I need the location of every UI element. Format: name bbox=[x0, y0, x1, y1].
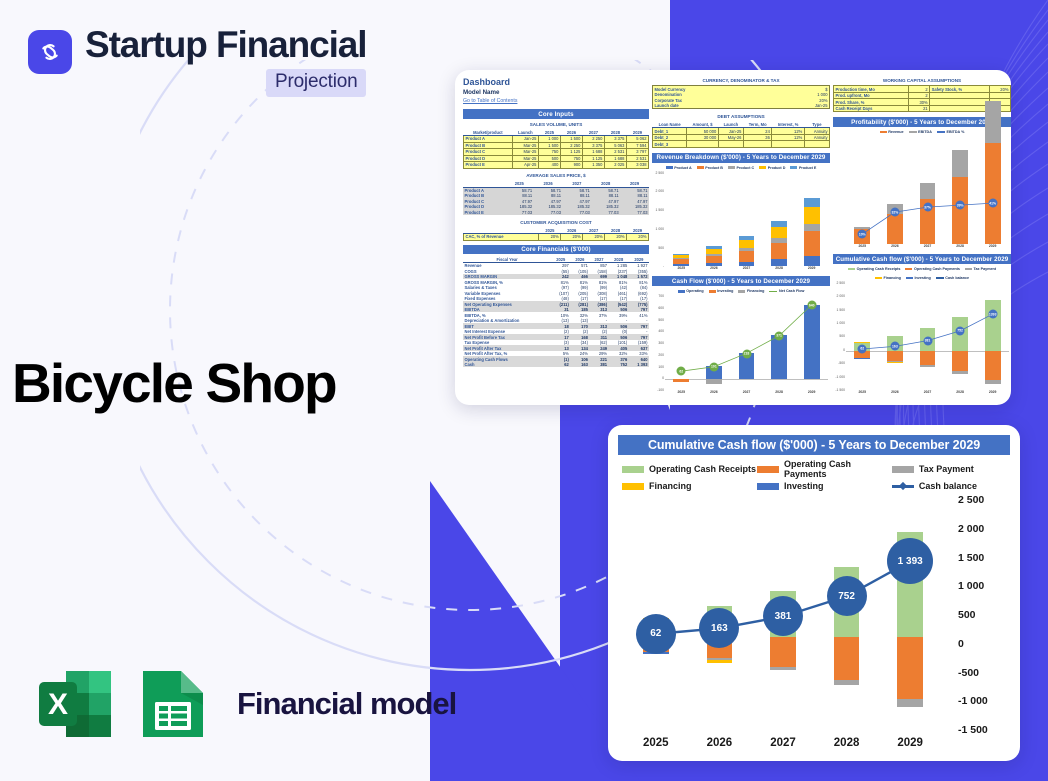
x-tick: 2025 bbox=[624, 737, 688, 749]
table-cell: Product E bbox=[464, 162, 513, 169]
plot-area: 621633817521393 bbox=[846, 285, 1009, 390]
table-row[interactable]: CAC, % of Revenue20%20%20%20%20% bbox=[464, 234, 649, 241]
x-axis-labels: 20252026202720282029 bbox=[846, 244, 1009, 252]
bar-segment[interactable] bbox=[673, 258, 689, 259]
table-cell: 21 bbox=[909, 105, 930, 112]
bar-segment[interactable] bbox=[804, 207, 820, 224]
legend-item: Product E bbox=[790, 166, 816, 170]
legend-swatch bbox=[769, 291, 777, 292]
legend-label: EBITDA % bbox=[946, 130, 964, 134]
y-tick: 2 500 bbox=[958, 494, 984, 506]
x-tick: 2029 bbox=[878, 737, 942, 749]
bar-segment[interactable] bbox=[673, 254, 689, 255]
cash-balance-bubble[interactable]: 381 bbox=[763, 596, 803, 636]
legend-label: Cash balance bbox=[945, 276, 969, 280]
cash-flow-legend: OperatingInvestingFinancingNet Cash Flow bbox=[652, 288, 830, 294]
legend-swatch bbox=[709, 290, 716, 293]
table-cell bbox=[743, 141, 771, 148]
legend-item: EBITDA bbox=[909, 130, 932, 134]
revenue-breakdown-legend: Product AProduct BProduct CProduct DProd… bbox=[652, 165, 830, 171]
legend-swatch bbox=[678, 290, 685, 293]
legend-label: Tax Payment bbox=[974, 267, 996, 271]
sales-volume-caption: SALES VOLUME, UNITS bbox=[463, 121, 649, 127]
data-point-bubble[interactable]: 37% bbox=[923, 203, 932, 212]
y-tick: 200 bbox=[658, 353, 664, 357]
y-tick: 2 000 bbox=[656, 189, 665, 193]
avg-price-caption: AVERAGE SALES PRICE, $ bbox=[463, 173, 649, 179]
legend-item: Product A bbox=[666, 166, 692, 170]
data-point-bubble[interactable]: 101 bbox=[709, 362, 718, 371]
bar-segment[interactable] bbox=[706, 254, 722, 256]
x-tick: 2029 bbox=[795, 390, 828, 398]
legend-label: Investing bbox=[717, 289, 733, 293]
legend-item: Tax Payment bbox=[892, 459, 1008, 479]
legend-item: Operating Cash Payments bbox=[757, 459, 892, 479]
cac-table[interactable]: 20252026202720282029 CAC, % of Revenue20… bbox=[463, 227, 649, 240]
y-tick: 0 bbox=[662, 376, 664, 380]
table-row[interactable]: Cash621633817521 393 bbox=[463, 362, 649, 368]
table-cell: Jan-25 bbox=[773, 103, 829, 109]
revenue-breakdown-chart[interactable]: 2 5002 0001 5001 000500-2025202620272028… bbox=[652, 173, 830, 275]
y-tick: 2 000 bbox=[958, 523, 984, 535]
legend-label: Financing bbox=[747, 289, 764, 293]
y-tick: 1 500 bbox=[837, 308, 846, 312]
legend-item: Operating Cash Receipts bbox=[622, 459, 757, 479]
x-tick: 2027 bbox=[730, 390, 763, 398]
data-point-bubble[interactable]: 62 bbox=[858, 344, 867, 353]
table-cell bbox=[772, 141, 804, 148]
legend-swatch bbox=[909, 131, 917, 132]
legend-label: Financing bbox=[649, 481, 692, 491]
google-sheets-icon bbox=[135, 662, 211, 746]
y-tick: -1 500 bbox=[835, 388, 845, 392]
y-tick: - bbox=[663, 264, 664, 268]
y-tick: -500 bbox=[958, 667, 979, 679]
table-cell: Cash bbox=[463, 362, 551, 368]
plot-area: 62101218371640 bbox=[665, 298, 828, 390]
core-inputs-band: Core Inputs bbox=[463, 109, 649, 119]
table-cell: 20% bbox=[583, 234, 605, 241]
plot-area bbox=[665, 175, 828, 267]
bar-segment[interactable] bbox=[771, 259, 787, 266]
bar-segment[interactable] bbox=[804, 198, 820, 207]
table-cell: 77.03 bbox=[505, 210, 534, 216]
table-cell: 3 038 bbox=[626, 162, 648, 169]
legend-item: Tax Payment bbox=[965, 267, 996, 271]
legend-item: Product B bbox=[697, 166, 723, 170]
y-tick: 300 bbox=[658, 341, 664, 345]
infinity-e-logo-glyph bbox=[37, 39, 63, 65]
table-cell: 77.03 bbox=[562, 210, 591, 216]
toc-link[interactable]: Go to Table of Contents bbox=[463, 98, 649, 104]
legend-item: Investing bbox=[709, 289, 734, 293]
table-cell: 20% bbox=[539, 234, 561, 241]
legend-swatch bbox=[622, 466, 644, 473]
bar-segment[interactable] bbox=[771, 227, 787, 238]
legend-swatch bbox=[848, 268, 855, 271]
dashboard-heading: Dashboard bbox=[463, 77, 649, 87]
legend-label: Operating Cash Receipts bbox=[649, 464, 756, 474]
legend-label: Tax Payment bbox=[919, 464, 974, 474]
legend-label: Operating Cash Payments bbox=[784, 459, 892, 479]
x-tick: 2026 bbox=[879, 244, 912, 252]
cumulative-cash-flow-chart[interactable]: 2 5002 0001 5001 0005000-500-1 000-1 500… bbox=[833, 283, 1011, 398]
legend-item: Operating Cash Payments bbox=[905, 267, 960, 271]
core-financials-band: Core Financials ($'000) bbox=[463, 245, 649, 255]
legend-label: Investing bbox=[915, 276, 931, 280]
core-financials-table[interactable]: Fiscal Year20252026202720282029 Revenue2… bbox=[463, 256, 649, 367]
legend-item: Operating Cash Receipts bbox=[848, 267, 900, 271]
y-tick: 500 bbox=[958, 609, 976, 621]
x-tick: 2027 bbox=[730, 266, 763, 274]
legend-item: Revenue bbox=[880, 130, 904, 134]
bar-segment[interactable] bbox=[673, 255, 689, 258]
legend-swatch bbox=[905, 268, 912, 271]
currency-assumptions-table[interactable]: Model Currency$Denomination1 000Corporat… bbox=[652, 85, 830, 109]
dashboard-screenshot-card[interactable]: Dashboard Model Name Go to Table of Cont… bbox=[455, 70, 1011, 405]
y-tick: -1 000 bbox=[958, 695, 988, 707]
x-tick: 2026 bbox=[698, 390, 731, 398]
table-cell: 900 bbox=[560, 162, 582, 169]
y-tick: 400 bbox=[658, 329, 664, 333]
y-tick: 100 bbox=[658, 365, 664, 369]
x-tick: 2029 bbox=[976, 244, 1009, 252]
data-point-bubble[interactable]: 218 bbox=[742, 349, 751, 358]
legend-item: Financing bbox=[622, 481, 757, 491]
legend-swatch bbox=[738, 290, 745, 293]
cumulative-cash-flow-legend: Operating Cash ReceiptsOperating Cash Pa… bbox=[833, 266, 1011, 281]
table-row[interactable]: Launch dateJan-25 bbox=[653, 103, 830, 109]
bar-segment[interactable] bbox=[739, 236, 755, 240]
legend-label: Operating Cash Payments bbox=[914, 267, 960, 271]
cumulative-chart-legend: Operating Cash ReceiptsOperating Cash Pa… bbox=[618, 455, 1010, 493]
microsoft-excel-icon: X bbox=[33, 662, 117, 746]
x-tick: 2026 bbox=[698, 266, 731, 274]
data-point-bubble[interactable]: 41% bbox=[988, 199, 997, 208]
y-tick: 500 bbox=[839, 334, 845, 338]
cumulative-chart-title: Cumulative Cash flow ($'000) - 5 Years t… bbox=[618, 435, 1010, 455]
x-tick: 2026 bbox=[688, 737, 752, 749]
table-cell: 1 350 bbox=[582, 162, 604, 169]
cumulative-chart-y-axis: 2 5002 0001 5001 0005000-500-1 000-1 500 bbox=[948, 497, 1010, 753]
legend-item: Net Cash Flow bbox=[769, 289, 804, 293]
data-point-bubble[interactable]: 752 bbox=[956, 326, 965, 335]
y-tick: 2 500 bbox=[837, 281, 846, 285]
profitability-chart[interactable]: 10%32%37%39%41%20252026202720282029 bbox=[833, 137, 1011, 252]
cumulative-chart-plot-area[interactable]: 621633817521 393 20252026202720282029 bbox=[618, 497, 948, 753]
legend-label: Operating Cash Receipts bbox=[857, 267, 901, 271]
legend-label: Revenue bbox=[888, 130, 903, 134]
x-axis-labels: 20252026202720282029 bbox=[665, 266, 828, 274]
table-row[interactable]: Product E77.0377.0377.0377.0377.03 bbox=[463, 210, 649, 216]
legend-item: Investing bbox=[906, 276, 931, 280]
table-cell: 381 bbox=[589, 362, 608, 368]
cash-balance-bubble[interactable]: 1 393 bbox=[887, 538, 933, 584]
legend-swatch bbox=[757, 483, 779, 490]
debt-assumptions-table[interactable]: Loan NameAmount, $LaunchTerm, MoInterest… bbox=[652, 122, 830, 148]
table-cell: CAC, % of Revenue bbox=[464, 234, 539, 241]
table-cell: 77.03 bbox=[620, 210, 649, 216]
bar-segment[interactable] bbox=[706, 249, 722, 254]
data-point-bubble[interactable]: 640 bbox=[807, 301, 816, 310]
legend-item: Cash balance bbox=[892, 481, 1008, 491]
table-cell: 20% bbox=[605, 234, 627, 241]
svg-text:X: X bbox=[48, 688, 68, 721]
bar-segment[interactable] bbox=[804, 256, 820, 267]
data-point-bubble[interactable]: 381 bbox=[923, 336, 932, 345]
x-tick: 2028 bbox=[763, 390, 796, 398]
x-tick: 2028 bbox=[815, 737, 879, 749]
bar-segment[interactable] bbox=[985, 101, 1001, 143]
bar-segment[interactable] bbox=[673, 259, 689, 264]
wc-caption: WORKING CAPITAL ASSUMPTIONS bbox=[833, 77, 1011, 83]
bar-segment[interactable] bbox=[771, 243, 787, 259]
x-tick: 2025 bbox=[665, 390, 698, 398]
y-tick: 500 bbox=[658, 318, 664, 322]
brand-title: Startup Financial bbox=[85, 26, 366, 64]
revenue-breakdown-title: Revenue Breakdown ($'000) - 5 Years to D… bbox=[652, 153, 830, 163]
legend-label: Product A bbox=[674, 166, 691, 170]
x-tick: 2028 bbox=[944, 390, 977, 398]
y-tick: 1 000 bbox=[958, 580, 984, 592]
y-tick: 1 000 bbox=[837, 321, 846, 325]
table-cell: 163 bbox=[570, 362, 589, 368]
bar-segment[interactable] bbox=[706, 246, 722, 249]
legend-swatch bbox=[759, 166, 766, 169]
legend-swatch bbox=[697, 166, 704, 169]
cumulative-chart-x-axis: 20252026202720282029 bbox=[624, 723, 942, 749]
cumulative-cash-flow-title: Cumulative Cash flow ($'000) - 5 Years t… bbox=[833, 254, 1011, 264]
legend-item: Financing bbox=[875, 276, 901, 280]
x-tick: 2028 bbox=[763, 266, 796, 274]
y-tick: 0 bbox=[843, 348, 845, 352]
y-tick: 700 bbox=[658, 294, 664, 298]
legend-swatch bbox=[936, 277, 944, 278]
x-tick: 2029 bbox=[976, 390, 1009, 398]
table-cell: Product E bbox=[463, 210, 505, 216]
legend-label: EBITDA bbox=[918, 130, 932, 134]
avg-price-table[interactable]: 20252026202720282029 Product A58.7158.71… bbox=[463, 181, 649, 215]
dashboard-column-profitability: WORKING CAPITAL ASSUMPTIONS Production t… bbox=[833, 77, 1011, 398]
table-cell: Debt_3 bbox=[653, 141, 687, 148]
bar-segment[interactable] bbox=[771, 238, 787, 242]
data-point-bubble[interactable]: 163 bbox=[890, 342, 899, 351]
brand-subtitle: Projection bbox=[266, 69, 367, 97]
table-cell: Cash Receipt Days bbox=[834, 105, 909, 112]
table-cell bbox=[687, 141, 718, 148]
x-axis-labels: 20252026202720282029 bbox=[846, 390, 1009, 398]
y-tick: -1 500 bbox=[958, 724, 988, 736]
table-cell bbox=[930, 105, 990, 112]
legend-item: Financing bbox=[738, 289, 764, 293]
legend-label: Cash balance bbox=[919, 481, 977, 491]
legend-label: Product C bbox=[737, 166, 755, 170]
y-tick: 500 bbox=[658, 246, 664, 250]
y-tick: -100 bbox=[657, 388, 664, 392]
data-point-bubble[interactable]: 62 bbox=[677, 367, 686, 376]
table-cell: Apr-25 bbox=[512, 162, 538, 169]
cash-balance-bubble[interactable]: 752 bbox=[827, 576, 867, 616]
data-point-bubble[interactable]: 1393 bbox=[988, 310, 997, 319]
legend-label: Financing bbox=[884, 276, 901, 280]
data-point-bubble[interactable]: 371 bbox=[775, 331, 784, 340]
legend-item: EBITDA % bbox=[937, 130, 965, 134]
y-tick: 2 000 bbox=[837, 294, 846, 298]
legend-label: Net Cash Flow bbox=[779, 289, 804, 293]
table-cell: 752 bbox=[609, 362, 629, 368]
data-point-bubble[interactable]: 10% bbox=[858, 230, 867, 239]
footer-formats: X Financial model bbox=[33, 662, 456, 746]
data-point-bubble[interactable]: 32% bbox=[890, 208, 899, 217]
debt-caption: DEBT ASSUMPTIONS bbox=[652, 113, 830, 119]
bar-segment[interactable] bbox=[771, 221, 787, 227]
x-axis-labels: 20252026202720282029 bbox=[665, 390, 828, 398]
y-tick: 1 500 bbox=[656, 208, 665, 212]
y-tick: 0 bbox=[958, 638, 964, 650]
bar-segment[interactable] bbox=[706, 256, 722, 263]
table-cell bbox=[718, 141, 743, 148]
legend-line-marker bbox=[892, 485, 914, 488]
y-tick: -500 bbox=[838, 361, 845, 365]
legend-swatch bbox=[666, 166, 673, 169]
page-title: Bicycle Shop bbox=[12, 356, 336, 411]
legend-item: Product C bbox=[728, 166, 754, 170]
bar-segment[interactable] bbox=[739, 248, 755, 251]
table-cell: 77.03 bbox=[534, 210, 563, 216]
table-cell bbox=[804, 141, 829, 148]
legend-swatch bbox=[875, 277, 882, 280]
brand-logo-icon bbox=[28, 30, 72, 74]
cash-flow-chart[interactable]: 7006005004003002001000-10062101218371640… bbox=[652, 296, 830, 398]
table-cell: Launch date bbox=[653, 103, 774, 109]
legend-item: Cash balance bbox=[936, 276, 969, 280]
bar-segment[interactable] bbox=[804, 224, 820, 231]
legend-swatch bbox=[965, 268, 972, 271]
currency-caption: CURRENCY, DENOMINATOR & TAX bbox=[652, 77, 830, 83]
brand-header: Startup Financial Projection bbox=[28, 26, 366, 97]
legend-swatch bbox=[790, 166, 797, 169]
cash-balance-bubble[interactable]: 163 bbox=[699, 608, 739, 648]
x-tick: 2027 bbox=[911, 244, 944, 252]
table-cell: 77.03 bbox=[591, 210, 620, 216]
table-cell: 2 025 bbox=[604, 162, 626, 169]
x-tick: 2029 bbox=[795, 266, 828, 274]
dashboard-column-inputs: Dashboard Model Name Go to Table of Cont… bbox=[463, 77, 649, 398]
table-cell: 62 bbox=[551, 362, 570, 368]
y-tick: 1 000 bbox=[656, 227, 665, 231]
legend-label: Investing bbox=[784, 481, 824, 491]
x-tick: 2028 bbox=[944, 244, 977, 252]
y-tick: -1 000 bbox=[835, 375, 845, 379]
table-cell: 400 bbox=[538, 162, 560, 169]
sales-volume-table[interactable]: Market/productLaunch20252026202720282029… bbox=[463, 130, 649, 169]
legend-swatch bbox=[937, 131, 945, 132]
table-cell: 1 393 bbox=[629, 362, 649, 368]
x-tick: 2027 bbox=[751, 737, 815, 749]
legend-item: Investing bbox=[757, 481, 892, 491]
x-tick: 2027 bbox=[911, 390, 944, 398]
table-cell: 20% bbox=[627, 234, 649, 241]
bar-segment[interactable] bbox=[739, 251, 755, 262]
footer-label: Financial model bbox=[237, 686, 456, 722]
legend-swatch bbox=[906, 277, 913, 280]
plot-area: 10%32%37%39%41% bbox=[846, 139, 1009, 244]
table-row[interactable]: Product EApr-254009001 3502 0253 038 bbox=[464, 162, 649, 169]
cash-flow-title: Cash Flow ($'000) - 5 Years to December … bbox=[652, 276, 830, 286]
dashboard-column-revenue: CURRENCY, DENOMINATOR & TAX Model Curren… bbox=[652, 77, 830, 398]
x-tick: 2026 bbox=[879, 390, 912, 398]
y-tick: 600 bbox=[658, 306, 664, 310]
legend-label: Operating bbox=[686, 289, 703, 293]
y-tick: 2 500 bbox=[656, 171, 665, 175]
x-tick: 2025 bbox=[846, 244, 879, 252]
bar-segment[interactable] bbox=[804, 231, 820, 256]
data-point-bubble[interactable]: 39% bbox=[956, 201, 965, 210]
cash-balance-bubble[interactable]: 62 bbox=[636, 614, 676, 654]
cac-caption: CUSTOMER ACQUISITION COST bbox=[463, 219, 649, 225]
table-row[interactable]: Debt_3 bbox=[653, 141, 830, 148]
x-tick: 2025 bbox=[665, 266, 698, 274]
legend-label: Product B bbox=[705, 166, 723, 170]
legend-swatch bbox=[757, 466, 779, 473]
legend-label: Product D bbox=[768, 166, 786, 170]
legend-label: Product E bbox=[799, 166, 816, 170]
legend-swatch bbox=[880, 131, 887, 134]
x-tick: 2025 bbox=[846, 390, 879, 398]
bar-segment[interactable] bbox=[739, 240, 755, 248]
cumulative-cash-flow-card[interactable]: Cumulative Cash flow ($'000) - 5 Years t… bbox=[608, 425, 1020, 761]
legend-swatch bbox=[622, 483, 644, 490]
model-name-label: Model Name bbox=[463, 89, 649, 96]
table-cell: 20% bbox=[561, 234, 583, 241]
legend-swatch bbox=[728, 166, 735, 169]
legend-item: Operating bbox=[678, 289, 704, 293]
y-tick: 1 500 bbox=[958, 552, 984, 564]
legend-item: Product D bbox=[759, 166, 785, 170]
legend-swatch bbox=[892, 466, 914, 473]
